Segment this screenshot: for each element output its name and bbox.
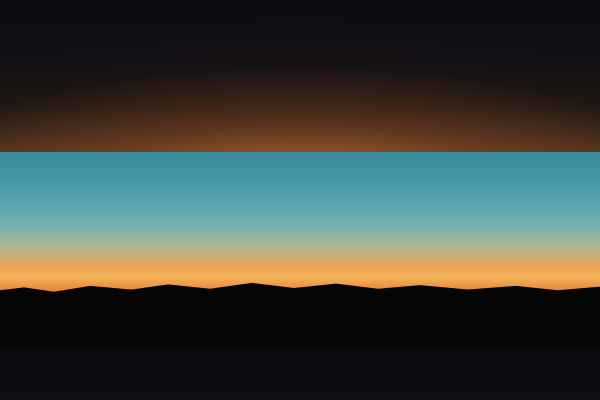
- ground-silhouette: [0, 274, 600, 348]
- screenshot-root: [0, 0, 600, 400]
- shijue-zhongguo-logo-icon: [424, 282, 446, 304]
- price-chart-panel[interactable]: [0, 0, 600, 152]
- sunset-photo: [0, 152, 600, 348]
- moving-average-lines: [0, 0, 600, 152]
- volume-chart-panel[interactable]: [0, 348, 600, 400]
- watermark: [420, 282, 450, 304]
- volume-ma-line: [0, 348, 600, 400]
